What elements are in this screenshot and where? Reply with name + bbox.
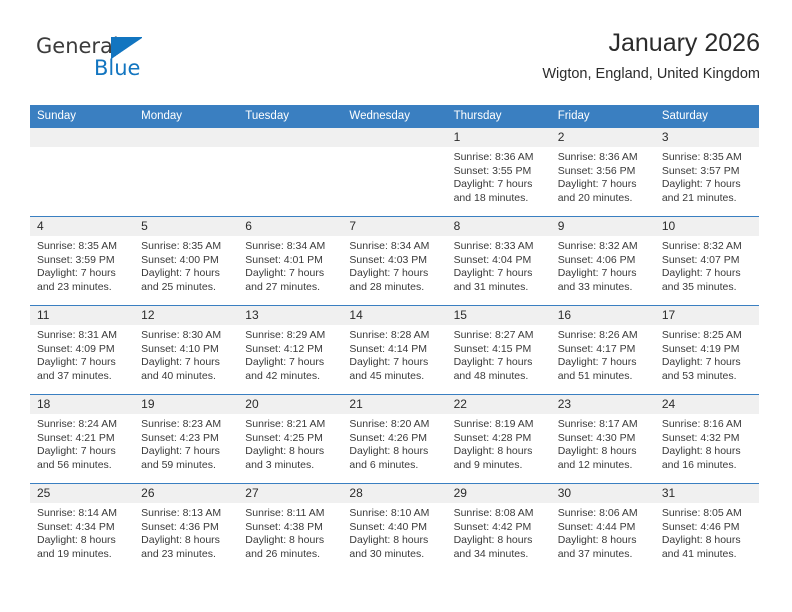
- day-number: 31: [655, 484, 759, 503]
- daylight-duration-line1: Daylight: 8 hours: [245, 534, 336, 548]
- daylight-duration-line1: Daylight: 8 hours: [558, 445, 649, 459]
- day-number: 15: [447, 306, 551, 325]
- day-number: 22: [447, 395, 551, 414]
- sunrise-time: Sunrise: 8:20 AM: [349, 418, 440, 432]
- logo-text-general: General: [36, 34, 119, 58]
- daylight-duration-line2: and 37 minutes.: [37, 370, 128, 384]
- daylight-duration-line2: and 42 minutes.: [245, 370, 336, 384]
- calendar-day-cell-empty: [134, 128, 238, 217]
- sunset-time: Sunset: 4:07 PM: [662, 254, 753, 268]
- calendar-day-cell[interactable]: 20Sunrise: 8:21 AMSunset: 4:25 PMDayligh…: [238, 395, 342, 484]
- sunset-time: Sunset: 4:19 PM: [662, 343, 753, 357]
- sunrise-time: Sunrise: 8:29 AM: [245, 329, 336, 343]
- sunset-time: Sunset: 4:10 PM: [141, 343, 232, 357]
- day-details: Sunrise: 8:19 AMSunset: 4:28 PMDaylight:…: [447, 414, 551, 472]
- calendar-day-cell[interactable]: 3Sunrise: 8:35 AMSunset: 3:57 PMDaylight…: [655, 128, 759, 217]
- logo-text-blue: Blue: [94, 56, 140, 80]
- calendar-week-row: 4Sunrise: 8:35 AMSunset: 3:59 PMDaylight…: [30, 217, 759, 306]
- calendar-week-row: 18Sunrise: 8:24 AMSunset: 4:21 PMDayligh…: [30, 395, 759, 484]
- daylight-duration-line1: Daylight: 7 hours: [37, 445, 128, 459]
- daylight-duration-line1: Daylight: 7 hours: [558, 356, 649, 370]
- sunrise-time: Sunrise: 8:31 AM: [37, 329, 128, 343]
- sunset-time: Sunset: 4:04 PM: [454, 254, 545, 268]
- day-number: 13: [238, 306, 342, 325]
- day-number: 24: [655, 395, 759, 414]
- sunrise-time: Sunrise: 8:05 AM: [662, 507, 753, 521]
- daylight-duration-line1: Daylight: 8 hours: [349, 445, 440, 459]
- daylight-duration-line2: and 3 minutes.: [245, 459, 336, 473]
- sunrise-time: Sunrise: 8:36 AM: [454, 151, 545, 165]
- sunrise-time: Sunrise: 8:08 AM: [454, 507, 545, 521]
- sunrise-time: Sunrise: 8:21 AM: [245, 418, 336, 432]
- daylight-duration-line2: and 27 minutes.: [245, 281, 336, 295]
- day-details: Sunrise: 8:34 AMSunset: 4:01 PMDaylight:…: [238, 236, 342, 294]
- calendar-day-cell[interactable]: 5Sunrise: 8:35 AMSunset: 4:00 PMDaylight…: [134, 217, 238, 306]
- daylight-duration-line1: Daylight: 8 hours: [454, 445, 545, 459]
- day-number: 8: [447, 217, 551, 236]
- calendar-week-row: 11Sunrise: 8:31 AMSunset: 4:09 PMDayligh…: [30, 306, 759, 395]
- sunset-time: Sunset: 4:36 PM: [141, 521, 232, 535]
- calendar-day-cell[interactable]: 29Sunrise: 8:08 AMSunset: 4:42 PMDayligh…: [447, 484, 551, 573]
- day-details: Sunrise: 8:14 AMSunset: 4:34 PMDaylight:…: [30, 503, 134, 561]
- day-number: 4: [30, 217, 134, 236]
- sunrise-time: Sunrise: 8:30 AM: [141, 329, 232, 343]
- calendar-day-cell[interactable]: 30Sunrise: 8:06 AMSunset: 4:44 PMDayligh…: [551, 484, 655, 573]
- sunrise-time: Sunrise: 8:11 AM: [245, 507, 336, 521]
- daylight-duration-line1: Daylight: 7 hours: [141, 356, 232, 370]
- daylight-duration-line1: Daylight: 7 hours: [141, 445, 232, 459]
- day-number: 12: [134, 306, 238, 325]
- daylight-duration-line2: and 21 minutes.: [662, 192, 753, 206]
- sunset-time: Sunset: 4:38 PM: [245, 521, 336, 535]
- sunset-time: Sunset: 4:06 PM: [558, 254, 649, 268]
- daylight-duration-line1: Daylight: 7 hours: [662, 178, 753, 192]
- day-details: Sunrise: 8:28 AMSunset: 4:14 PMDaylight:…: [342, 325, 446, 383]
- sunset-time: Sunset: 4:46 PM: [662, 521, 753, 535]
- daylight-duration-line2: and 31 minutes.: [454, 281, 545, 295]
- day-details: Sunrise: 8:26 AMSunset: 4:17 PMDaylight:…: [551, 325, 655, 383]
- daylight-duration-line1: Daylight: 8 hours: [349, 534, 440, 548]
- day-number: [30, 128, 134, 147]
- daylight-duration-line1: Daylight: 7 hours: [454, 356, 545, 370]
- sunrise-time: Sunrise: 8:19 AM: [454, 418, 545, 432]
- sunset-time: Sunset: 4:15 PM: [454, 343, 545, 357]
- daylight-duration-line2: and 16 minutes.: [662, 459, 753, 473]
- weekday-header-sunday: Sunday: [30, 105, 134, 128]
- day-number: 29: [447, 484, 551, 503]
- day-number: 18: [30, 395, 134, 414]
- day-details: Sunrise: 8:35 AMSunset: 3:57 PMDaylight:…: [655, 147, 759, 205]
- day-details: Sunrise: 8:24 AMSunset: 4:21 PMDaylight:…: [30, 414, 134, 472]
- sunset-time: Sunset: 4:09 PM: [37, 343, 128, 357]
- sunrise-time: Sunrise: 8:32 AM: [662, 240, 753, 254]
- calendar-day-cell[interactable]: 28Sunrise: 8:10 AMSunset: 4:40 PMDayligh…: [342, 484, 446, 573]
- page-subtitle: Wigton, England, United Kingdom: [542, 65, 760, 83]
- day-details: Sunrise: 8:21 AMSunset: 4:25 PMDaylight:…: [238, 414, 342, 472]
- weekday-header-friday: Friday: [551, 105, 655, 128]
- day-details: Sunrise: 8:25 AMSunset: 4:19 PMDaylight:…: [655, 325, 759, 383]
- daylight-duration-line1: Daylight: 8 hours: [662, 445, 753, 459]
- weekday-header-monday: Monday: [134, 105, 238, 128]
- daylight-duration-line1: Daylight: 8 hours: [558, 534, 649, 548]
- calendar-day-cell[interactable]: 26Sunrise: 8:13 AMSunset: 4:36 PMDayligh…: [134, 484, 238, 573]
- sunrise-time: Sunrise: 8:26 AM: [558, 329, 649, 343]
- page-header: General: [30, 28, 760, 96]
- daylight-duration-line1: Daylight: 8 hours: [662, 534, 753, 548]
- sunset-time: Sunset: 4:28 PM: [454, 432, 545, 446]
- sunset-time: Sunset: 4:30 PM: [558, 432, 649, 446]
- daylight-duration-line2: and 37 minutes.: [558, 548, 649, 562]
- daylight-duration-line2: and 9 minutes.: [454, 459, 545, 473]
- calendar-day-cell[interactable]: 2Sunrise: 8:36 AMSunset: 3:56 PMDaylight…: [551, 128, 655, 217]
- sunset-time: Sunset: 4:14 PM: [349, 343, 440, 357]
- day-number: 2: [551, 128, 655, 147]
- daylight-duration-line1: Daylight: 8 hours: [141, 534, 232, 548]
- sunset-time: Sunset: 3:55 PM: [454, 165, 545, 179]
- calendar-body: 1Sunrise: 8:36 AMSunset: 3:55 PMDaylight…: [30, 128, 759, 572]
- sunset-time: Sunset: 3:56 PM: [558, 165, 649, 179]
- calendar-page: General: [0, 0, 792, 612]
- calendar-day-cell[interactable]: 22Sunrise: 8:19 AMSunset: 4:28 PMDayligh…: [447, 395, 551, 484]
- daylight-duration-line1: Daylight: 7 hours: [558, 178, 649, 192]
- title-block: January 2026 Wigton, England, United Kin…: [542, 28, 760, 83]
- daylight-duration-line2: and 35 minutes.: [662, 281, 753, 295]
- weekday-header-saturday: Saturday: [655, 105, 759, 128]
- daylight-duration-line1: Daylight: 7 hours: [454, 267, 545, 281]
- calendar-day-cell[interactable]: 1Sunrise: 8:36 AMSunset: 3:55 PMDaylight…: [447, 128, 551, 217]
- daylight-duration-line1: Daylight: 8 hours: [454, 534, 545, 548]
- daylight-duration-line1: Daylight: 7 hours: [349, 356, 440, 370]
- sunrise-time: Sunrise: 8:24 AM: [37, 418, 128, 432]
- sunrise-time: Sunrise: 8:28 AM: [349, 329, 440, 343]
- day-number: 11: [30, 306, 134, 325]
- day-number: 28: [342, 484, 446, 503]
- calendar-day-cell[interactable]: 18Sunrise: 8:24 AMSunset: 4:21 PMDayligh…: [30, 395, 134, 484]
- daylight-duration-line1: Daylight: 7 hours: [245, 267, 336, 281]
- calendar-day-cell[interactable]: 27Sunrise: 8:11 AMSunset: 4:38 PMDayligh…: [238, 484, 342, 573]
- calendar-day-cell[interactable]: 16Sunrise: 8:26 AMSunset: 4:17 PMDayligh…: [551, 306, 655, 395]
- sunset-time: Sunset: 4:25 PM: [245, 432, 336, 446]
- day-number: 23: [551, 395, 655, 414]
- sunrise-time: Sunrise: 8:16 AM: [662, 418, 753, 432]
- daylight-duration-line2: and 30 minutes.: [349, 548, 440, 562]
- day-details: Sunrise: 8:36 AMSunset: 3:55 PMDaylight:…: [447, 147, 551, 205]
- calendar-day-cell[interactable]: 15Sunrise: 8:27 AMSunset: 4:15 PMDayligh…: [447, 306, 551, 395]
- day-details: Sunrise: 8:29 AMSunset: 4:12 PMDaylight:…: [238, 325, 342, 383]
- sunrise-time: Sunrise: 8:35 AM: [662, 151, 753, 165]
- calendar-day-cell[interactable]: 31Sunrise: 8:05 AMSunset: 4:46 PMDayligh…: [655, 484, 759, 573]
- sunrise-time: Sunrise: 8:14 AM: [37, 507, 128, 521]
- daylight-duration-line2: and 34 minutes.: [454, 548, 545, 562]
- daylight-duration-line2: and 19 minutes.: [37, 548, 128, 562]
- sunset-time: Sunset: 3:57 PM: [662, 165, 753, 179]
- daylight-duration-line2: and 26 minutes.: [245, 548, 336, 562]
- page-title: January 2026: [542, 28, 760, 58]
- calendar-day-cell-empty: [30, 128, 134, 217]
- daylight-duration-line2: and 41 minutes.: [662, 548, 753, 562]
- day-number: 30: [551, 484, 655, 503]
- calendar-day-cell[interactable]: 9Sunrise: 8:32 AMSunset: 4:06 PMDaylight…: [551, 217, 655, 306]
- daylight-duration-line1: Daylight: 7 hours: [454, 178, 545, 192]
- daylight-duration-line2: and 59 minutes.: [141, 459, 232, 473]
- day-number: 25: [30, 484, 134, 503]
- day-details: Sunrise: 8:13 AMSunset: 4:36 PMDaylight:…: [134, 503, 238, 561]
- daylight-duration-line2: and 48 minutes.: [454, 370, 545, 384]
- sunrise-time: Sunrise: 8:23 AM: [141, 418, 232, 432]
- daylight-duration-line2: and 53 minutes.: [662, 370, 753, 384]
- day-number: 6: [238, 217, 342, 236]
- calendar-day-cell-empty: [342, 128, 446, 217]
- sunrise-time: Sunrise: 8:17 AM: [558, 418, 649, 432]
- calendar-day-cell[interactable]: 17Sunrise: 8:25 AMSunset: 4:19 PMDayligh…: [655, 306, 759, 395]
- sunrise-time: Sunrise: 8:35 AM: [37, 240, 128, 254]
- day-details: Sunrise: 8:30 AMSunset: 4:10 PMDaylight:…: [134, 325, 238, 383]
- calendar-day-cell[interactable]: 8Sunrise: 8:33 AMSunset: 4:04 PMDaylight…: [447, 217, 551, 306]
- daylight-duration-line2: and 56 minutes.: [37, 459, 128, 473]
- day-number: 9: [551, 217, 655, 236]
- day-details: Sunrise: 8:33 AMSunset: 4:04 PMDaylight:…: [447, 236, 551, 294]
- daylight-duration-line2: and 51 minutes.: [558, 370, 649, 384]
- daylight-duration-line2: and 12 minutes.: [558, 459, 649, 473]
- daylight-duration-line2: and 18 minutes.: [454, 192, 545, 206]
- daylight-duration-line1: Daylight: 8 hours: [37, 534, 128, 548]
- logo[interactable]: General: [36, 34, 216, 90]
- sunrise-time: Sunrise: 8:10 AM: [349, 507, 440, 521]
- calendar-day-cell[interactable]: 19Sunrise: 8:23 AMSunset: 4:23 PMDayligh…: [134, 395, 238, 484]
- day-number: 1: [447, 128, 551, 147]
- day-number: 14: [342, 306, 446, 325]
- sunrise-time: Sunrise: 8:34 AM: [349, 240, 440, 254]
- day-number: 20: [238, 395, 342, 414]
- calendar-day-cell[interactable]: 14Sunrise: 8:28 AMSunset: 4:14 PMDayligh…: [342, 306, 446, 395]
- sunset-time: Sunset: 4:23 PM: [141, 432, 232, 446]
- day-details: Sunrise: 8:20 AMSunset: 4:26 PMDaylight:…: [342, 414, 446, 472]
- day-details: Sunrise: 8:08 AMSunset: 4:42 PMDaylight:…: [447, 503, 551, 561]
- day-number: 26: [134, 484, 238, 503]
- calendar-week-row: 25Sunrise: 8:14 AMSunset: 4:34 PMDayligh…: [30, 484, 759, 573]
- daylight-duration-line2: and 28 minutes.: [349, 281, 440, 295]
- daylight-duration-line1: Daylight: 7 hours: [141, 267, 232, 281]
- daylight-duration-line2: and 23 minutes.: [141, 548, 232, 562]
- weekday-header-wednesday: Wednesday: [342, 105, 446, 128]
- sunrise-time: Sunrise: 8:27 AM: [454, 329, 545, 343]
- calendar-day-cell[interactable]: 4Sunrise: 8:35 AMSunset: 3:59 PMDaylight…: [30, 217, 134, 306]
- day-number: 16: [551, 306, 655, 325]
- sunrise-time: Sunrise: 8:25 AM: [662, 329, 753, 343]
- sunset-time: Sunset: 4:40 PM: [349, 521, 440, 535]
- day-details: Sunrise: 8:35 AMSunset: 3:59 PMDaylight:…: [30, 236, 134, 294]
- daylight-duration-line2: and 25 minutes.: [141, 281, 232, 295]
- daylight-duration-line2: and 6 minutes.: [349, 459, 440, 473]
- sunrise-time: Sunrise: 8:36 AM: [558, 151, 649, 165]
- daylight-duration-line1: Daylight: 7 hours: [245, 356, 336, 370]
- sunrise-time: Sunrise: 8:34 AM: [245, 240, 336, 254]
- daylight-duration-line1: Daylight: 7 hours: [37, 356, 128, 370]
- weekday-header-thursday: Thursday: [447, 105, 551, 128]
- sunrise-time: Sunrise: 8:33 AM: [454, 240, 545, 254]
- day-number: 3: [655, 128, 759, 147]
- day-details: Sunrise: 8:05 AMSunset: 4:46 PMDaylight:…: [655, 503, 759, 561]
- day-number: 10: [655, 217, 759, 236]
- calendar-day-cell[interactable]: 25Sunrise: 8:14 AMSunset: 4:34 PMDayligh…: [30, 484, 134, 573]
- calendar-day-cell[interactable]: 12Sunrise: 8:30 AMSunset: 4:10 PMDayligh…: [134, 306, 238, 395]
- sunrise-time: Sunrise: 8:06 AM: [558, 507, 649, 521]
- calendar-day-cell[interactable]: 24Sunrise: 8:16 AMSunset: 4:32 PMDayligh…: [655, 395, 759, 484]
- day-details: Sunrise: 8:36 AMSunset: 3:56 PMDaylight:…: [551, 147, 655, 205]
- day-details: Sunrise: 8:31 AMSunset: 4:09 PMDaylight:…: [30, 325, 134, 383]
- daylight-duration-line1: Daylight: 7 hours: [662, 267, 753, 281]
- sunset-time: Sunset: 4:03 PM: [349, 254, 440, 268]
- day-details: Sunrise: 8:32 AMSunset: 4:07 PMDaylight:…: [655, 236, 759, 294]
- sunrise-time: Sunrise: 8:32 AM: [558, 240, 649, 254]
- day-details: Sunrise: 8:10 AMSunset: 4:40 PMDaylight:…: [342, 503, 446, 561]
- daylight-duration-line1: Daylight: 7 hours: [662, 356, 753, 370]
- day-number: 7: [342, 217, 446, 236]
- calendar-header-row: Sunday Monday Tuesday Wednesday Thursday…: [30, 105, 759, 128]
- day-number: 27: [238, 484, 342, 503]
- sunset-time: Sunset: 4:26 PM: [349, 432, 440, 446]
- day-details: Sunrise: 8:32 AMSunset: 4:06 PMDaylight:…: [551, 236, 655, 294]
- sunrise-sunset-calendar: Sunday Monday Tuesday Wednesday Thursday…: [30, 105, 759, 572]
- day-number: 21: [342, 395, 446, 414]
- day-details: Sunrise: 8:17 AMSunset: 4:30 PMDaylight:…: [551, 414, 655, 472]
- daylight-duration-line2: and 45 minutes.: [349, 370, 440, 384]
- sunset-time: Sunset: 4:17 PM: [558, 343, 649, 357]
- day-details: Sunrise: 8:23 AMSunset: 4:23 PMDaylight:…: [134, 414, 238, 472]
- calendar-week-row: 1Sunrise: 8:36 AMSunset: 3:55 PMDaylight…: [30, 128, 759, 217]
- sunset-time: Sunset: 4:21 PM: [37, 432, 128, 446]
- calendar-day-cell[interactable]: 10Sunrise: 8:32 AMSunset: 4:07 PMDayligh…: [655, 217, 759, 306]
- weekday-header-tuesday: Tuesday: [238, 105, 342, 128]
- daylight-duration-line2: and 33 minutes.: [558, 281, 649, 295]
- sunset-time: Sunset: 4:01 PM: [245, 254, 336, 268]
- calendar-day-cell-empty: [238, 128, 342, 217]
- daylight-duration-line1: Daylight: 7 hours: [558, 267, 649, 281]
- sunset-time: Sunset: 4:12 PM: [245, 343, 336, 357]
- calendar-day-cell[interactable]: 11Sunrise: 8:31 AMSunset: 4:09 PMDayligh…: [30, 306, 134, 395]
- day-details: Sunrise: 8:16 AMSunset: 4:32 PMDaylight:…: [655, 414, 759, 472]
- day-number: 19: [134, 395, 238, 414]
- day-details: Sunrise: 8:27 AMSunset: 4:15 PMDaylight:…: [447, 325, 551, 383]
- day-details: Sunrise: 8:11 AMSunset: 4:38 PMDaylight:…: [238, 503, 342, 561]
- day-number: [342, 128, 446, 147]
- daylight-duration-line2: and 20 minutes.: [558, 192, 649, 206]
- sunset-time: Sunset: 4:42 PM: [454, 521, 545, 535]
- day-number: [134, 128, 238, 147]
- daylight-duration-line1: Daylight: 7 hours: [349, 267, 440, 281]
- daylight-duration-line2: and 23 minutes.: [37, 281, 128, 295]
- day-details: Sunrise: 8:34 AMSunset: 4:03 PMDaylight:…: [342, 236, 446, 294]
- day-number: [238, 128, 342, 147]
- day-details: Sunrise: 8:06 AMSunset: 4:44 PMDaylight:…: [551, 503, 655, 561]
- sunset-time: Sunset: 3:59 PM: [37, 254, 128, 268]
- sunset-time: Sunset: 4:44 PM: [558, 521, 649, 535]
- sunset-time: Sunset: 4:32 PM: [662, 432, 753, 446]
- calendar-day-cell[interactable]: 7Sunrise: 8:34 AMSunset: 4:03 PMDaylight…: [342, 217, 446, 306]
- calendar-day-cell[interactable]: 21Sunrise: 8:20 AMSunset: 4:26 PMDayligh…: [342, 395, 446, 484]
- sunset-time: Sunset: 4:00 PM: [141, 254, 232, 268]
- daylight-duration-line2: and 40 minutes.: [141, 370, 232, 384]
- daylight-duration-line1: Daylight: 7 hours: [37, 267, 128, 281]
- calendar-day-cell[interactable]: 6Sunrise: 8:34 AMSunset: 4:01 PMDaylight…: [238, 217, 342, 306]
- sunset-time: Sunset: 4:34 PM: [37, 521, 128, 535]
- sunrise-time: Sunrise: 8:35 AM: [141, 240, 232, 254]
- calendar-day-cell[interactable]: 13Sunrise: 8:29 AMSunset: 4:12 PMDayligh…: [238, 306, 342, 395]
- daylight-duration-line1: Daylight: 8 hours: [245, 445, 336, 459]
- day-details: Sunrise: 8:35 AMSunset: 4:00 PMDaylight:…: [134, 236, 238, 294]
- day-number: 5: [134, 217, 238, 236]
- day-number: 17: [655, 306, 759, 325]
- sunrise-time: Sunrise: 8:13 AM: [141, 507, 232, 521]
- calendar-day-cell[interactable]: 23Sunrise: 8:17 AMSunset: 4:30 PMDayligh…: [551, 395, 655, 484]
